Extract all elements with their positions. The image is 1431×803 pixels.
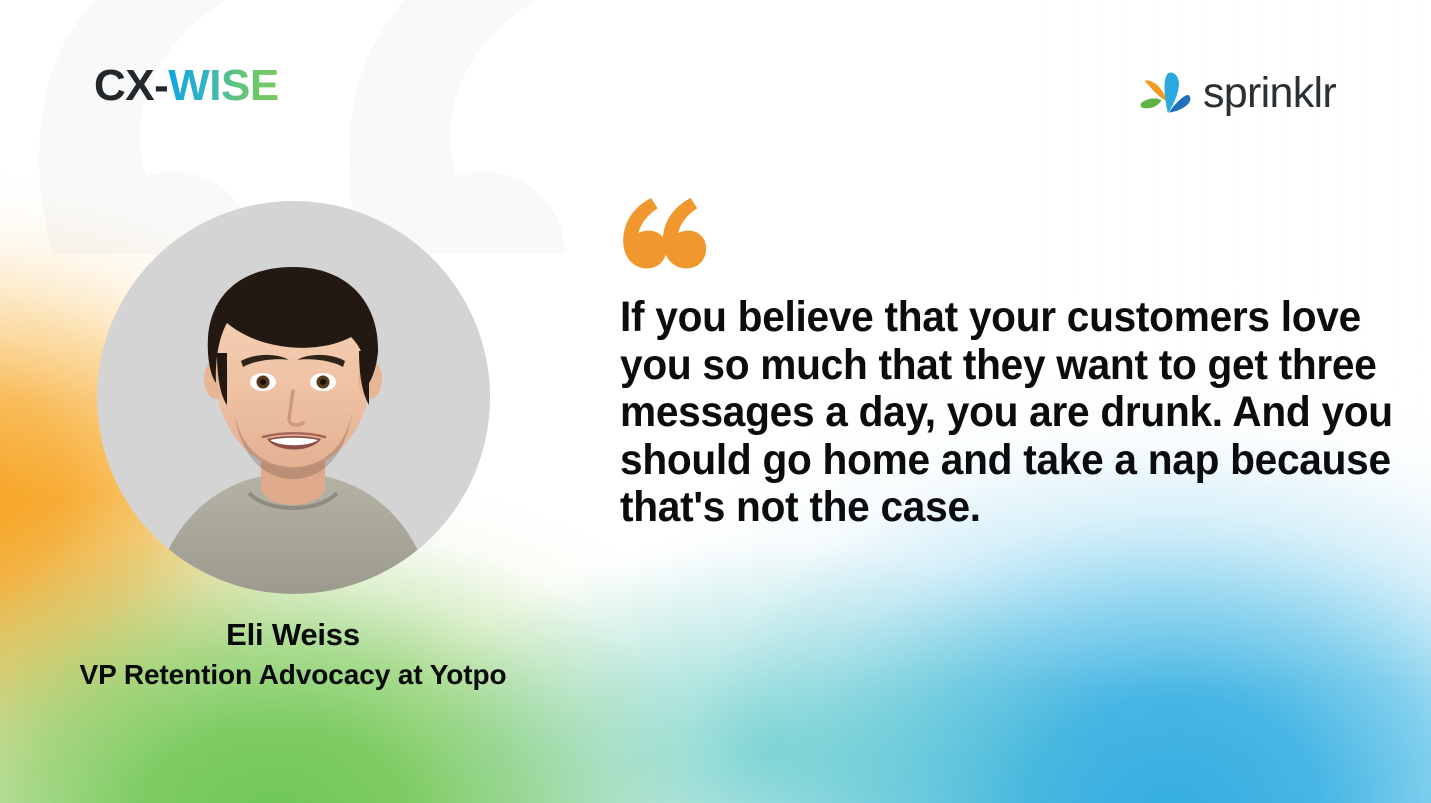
cx-wise-logo-dark-text: CX- xyxy=(94,61,168,110)
sprinklr-wordmark: sprinklr xyxy=(1203,72,1336,115)
quote-card-canvas: CX-WISE sprinklr xyxy=(0,0,1431,803)
speaker-photo-illustration xyxy=(97,201,490,594)
sprinklr-splash-icon xyxy=(1140,65,1194,117)
cx-wise-logo[interactable]: CX-WISE xyxy=(94,64,279,108)
speaker-title: VP Retention Advocacy at Yotpo xyxy=(0,660,586,691)
quote-line: that's not the case. xyxy=(620,484,1282,532)
quote-line: you so much that they want to get three xyxy=(620,342,1282,390)
quote-line: If you believe that your customers love xyxy=(620,294,1282,342)
speaker-name: Eli Weiss xyxy=(0,618,586,652)
quote-text: If you believe that your customers love … xyxy=(620,294,1282,532)
speaker-avatar xyxy=(97,201,490,594)
sprinklr-logo[interactable]: sprinklr xyxy=(1140,64,1336,118)
cx-wise-logo-gradient-text: WISE xyxy=(168,61,278,110)
quotation-mark-icon xyxy=(620,198,706,274)
quote-line: messages a day, you are drunk. And you xyxy=(620,389,1282,437)
quote-line: should go home and take a nap because xyxy=(620,437,1282,485)
